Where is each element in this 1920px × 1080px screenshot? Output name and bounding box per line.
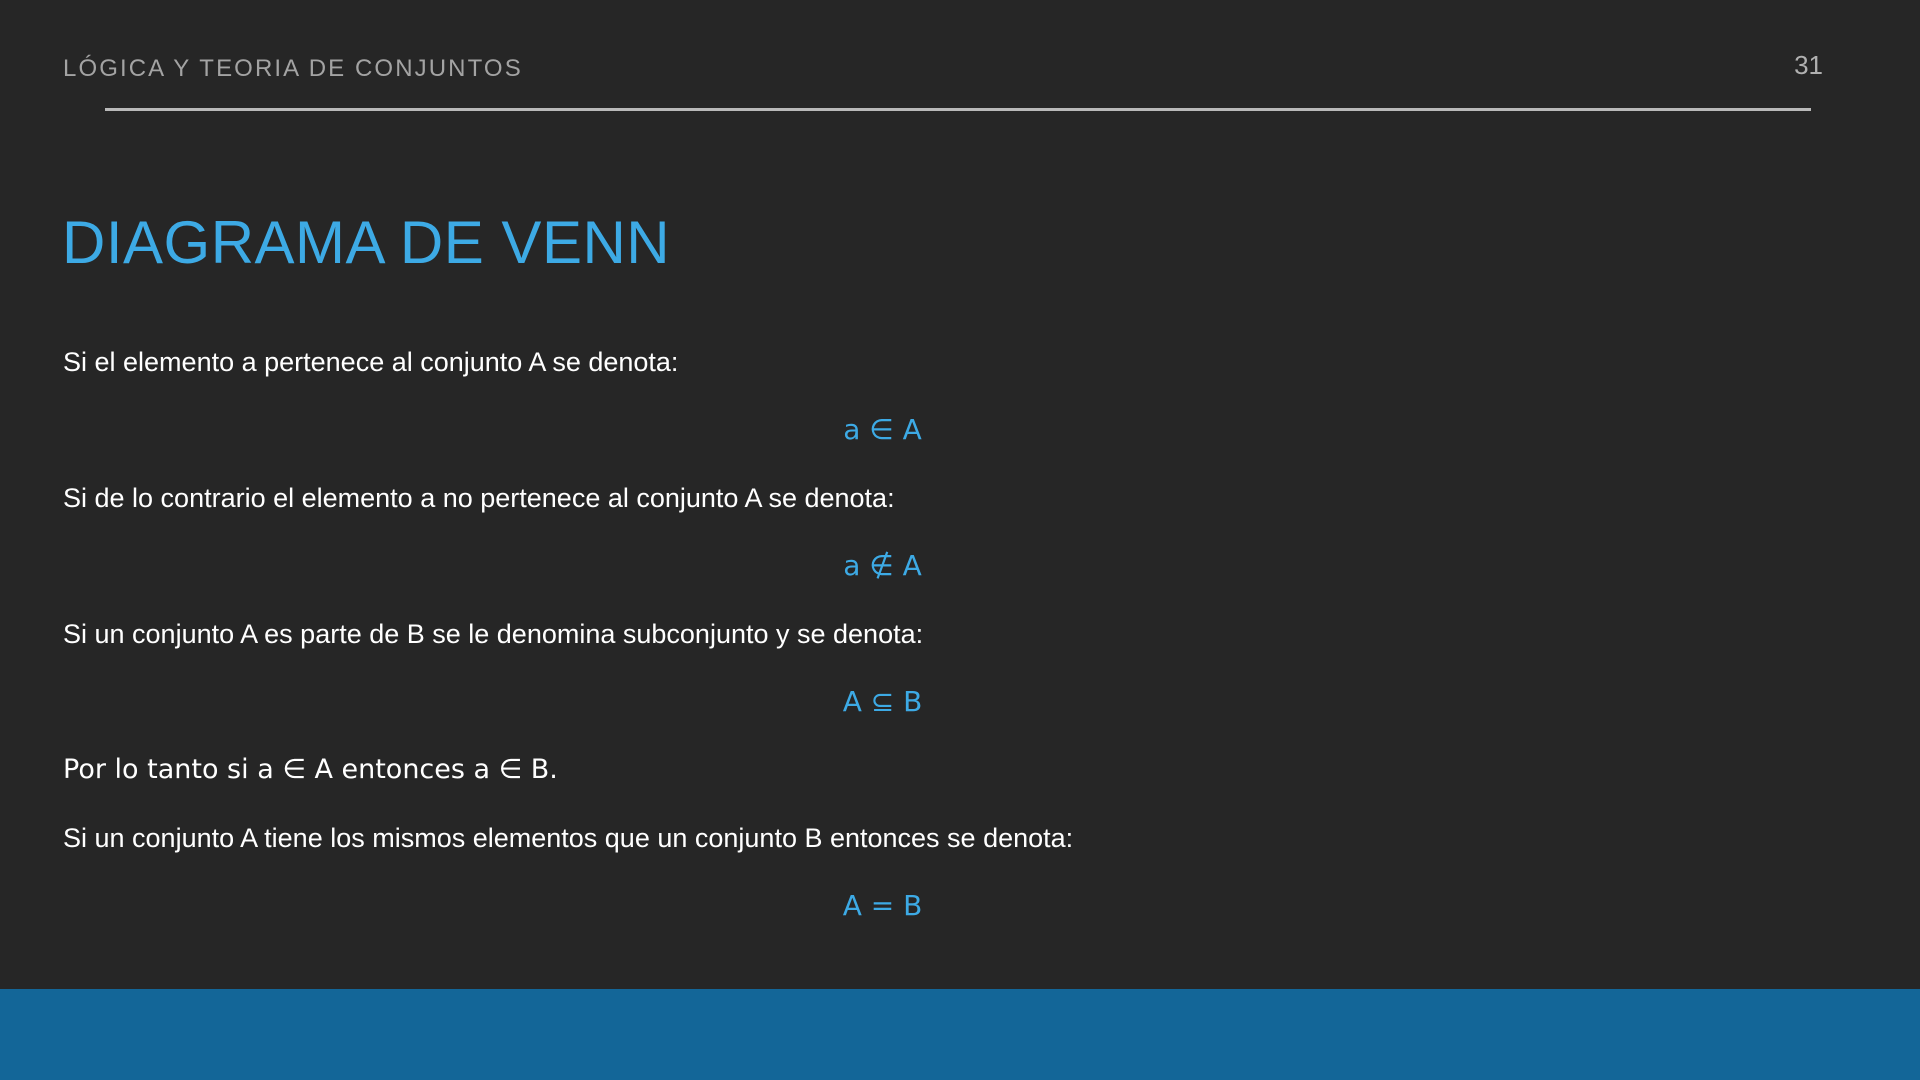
header-eyebrow-text: LÓGICA Y TEORIA DE CONJUNTOS (63, 55, 523, 83)
formula-line: a ∈ A (0, 413, 1920, 447)
spacer (0, 719, 1920, 753)
slide-header: LÓGICA Y TEORIA DE CONJUNTOS 31 (0, 0, 1920, 130)
body-paragraph: Si un conjunto A es parte de B se le den… (0, 617, 1920, 651)
spacer (0, 651, 1920, 685)
spacer (0, 583, 1920, 617)
formula-line: a ∉ A (0, 549, 1920, 583)
body-paragraph: Si un conjunto A tiene los mismos elemen… (0, 821, 1920, 855)
bottom-accent-bar (0, 989, 1920, 1080)
body-paragraph: Si el elemento a pertenece al conjunto A… (0, 345, 1920, 379)
formula-line: A = B (0, 889, 1920, 923)
formula-line: A ⊆ B (0, 685, 1920, 719)
page-title: DIAGRAMA DE VENN (62, 210, 670, 276)
spacer (0, 379, 1920, 413)
header-divider-rule (105, 108, 1811, 111)
slide-body: Si el elemento a pertenece al conjunto A… (0, 345, 1920, 923)
spacer (0, 787, 1920, 821)
body-paragraph: Por lo tanto si a ∈ A entonces a ∈ B. (0, 753, 1920, 787)
spacer (0, 447, 1920, 481)
spacer (0, 515, 1920, 549)
page-number: 31 (1794, 50, 1823, 81)
slide-canvas: LÓGICA Y TEORIA DE CONJUNTOS 31 DIAGRAMA… (0, 0, 1920, 1080)
spacer (0, 855, 1920, 889)
body-paragraph: Si de lo contrario el elemento a no pert… (0, 481, 1920, 515)
